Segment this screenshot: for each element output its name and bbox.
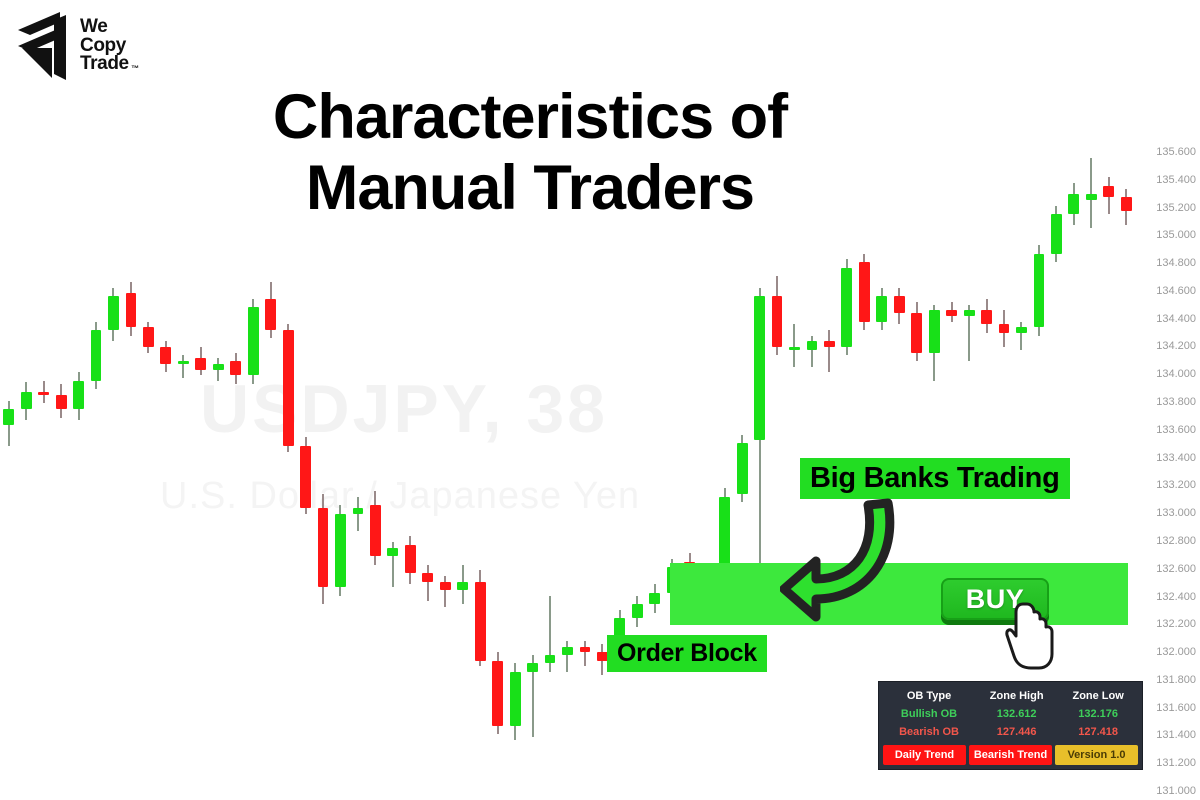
candlestick xyxy=(73,120,84,800)
candle-body xyxy=(178,361,189,364)
candlestick xyxy=(38,120,49,800)
candlestick xyxy=(649,120,660,800)
price-tick-label: 132.800 xyxy=(1156,535,1196,547)
candle-body xyxy=(405,545,416,573)
candlestick xyxy=(318,120,329,800)
candle-body xyxy=(335,514,346,587)
candlestick xyxy=(370,120,381,800)
candle-wick xyxy=(584,641,586,666)
pointing-hand-cursor-icon xyxy=(1005,600,1057,670)
candlestick xyxy=(719,120,730,800)
candle-body xyxy=(457,582,468,590)
candlestick xyxy=(213,120,224,800)
candle-body xyxy=(213,364,224,370)
candle-body xyxy=(562,647,573,655)
candle-body xyxy=(859,262,870,321)
candle-body xyxy=(981,310,992,324)
candlestick xyxy=(457,120,468,800)
price-tick-label: 131.800 xyxy=(1156,674,1196,686)
price-tick-label: 133.800 xyxy=(1156,396,1196,408)
candle-body xyxy=(56,395,67,409)
candlestick xyxy=(160,120,171,800)
ob-header-zone-low: Zone Low xyxy=(1058,687,1138,705)
candlestick xyxy=(562,120,573,800)
candlestick xyxy=(21,120,32,800)
candle-body xyxy=(318,508,329,587)
candle-body xyxy=(737,443,748,494)
candle-body xyxy=(195,358,206,369)
candle-body xyxy=(789,347,800,350)
table-row: Bearish OB 127.446 127.418 xyxy=(883,723,1138,741)
candle-body xyxy=(929,310,940,352)
candlestick xyxy=(422,120,433,800)
candle-body xyxy=(841,268,852,347)
brand-line-3: Trade xyxy=(80,55,129,73)
candle-body xyxy=(283,330,294,446)
candlestick xyxy=(772,120,783,800)
candlestick xyxy=(737,120,748,800)
candle-body xyxy=(160,347,171,364)
price-tick-label: 131.200 xyxy=(1156,757,1196,769)
candle-wick xyxy=(182,355,184,378)
candle-body xyxy=(999,324,1010,332)
wecopytrade-chevron-logo-icon xyxy=(10,8,72,84)
candlestick xyxy=(702,120,713,800)
price-tick-label: 131.000 xyxy=(1156,785,1196,797)
candle-body xyxy=(265,299,276,330)
price-tick-label: 135.600 xyxy=(1156,146,1196,158)
candlestick xyxy=(580,120,591,800)
candlestick xyxy=(3,120,14,800)
price-tick-label: 135.000 xyxy=(1156,229,1196,241)
candlestick xyxy=(440,120,451,800)
bearish-ob-zone-high: 127.446 xyxy=(975,723,1058,741)
candle-wick xyxy=(1020,322,1022,350)
candle-body xyxy=(632,604,643,618)
candlestick xyxy=(353,120,364,800)
candle-body xyxy=(475,582,486,661)
candlestick xyxy=(56,120,67,800)
price-tick-label: 131.400 xyxy=(1156,729,1196,741)
status-badge-row: Daily Trend Bearish Trend Version 1.0 xyxy=(883,745,1138,765)
candle-body xyxy=(1086,194,1097,200)
bullish-ob-zone-high: 132.612 xyxy=(975,705,1058,723)
candlestick xyxy=(545,120,556,800)
candle-body xyxy=(807,341,818,349)
price-tick-label: 135.400 xyxy=(1156,174,1196,186)
candle-body xyxy=(126,293,137,327)
bullish-ob-type: Bullish OB xyxy=(883,705,975,723)
candle-body xyxy=(1068,194,1079,214)
candlestick xyxy=(492,120,503,800)
candle-body xyxy=(353,508,364,514)
candlestick xyxy=(597,120,608,800)
price-tick-label: 133.600 xyxy=(1156,424,1196,436)
curved-left-arrow-icon xyxy=(780,495,900,625)
price-tick-label: 132.400 xyxy=(1156,591,1196,603)
candle-body xyxy=(527,663,538,671)
candle-wick xyxy=(811,336,813,367)
price-tick-label: 132.600 xyxy=(1156,563,1196,575)
candlestick xyxy=(387,120,398,800)
candle-body xyxy=(964,310,975,316)
price-tick-label: 134.600 xyxy=(1156,285,1196,297)
trademark-symbol: ™ xyxy=(131,65,139,73)
order-block-label: Order Block xyxy=(607,635,767,672)
price-axis: 135.600135.400135.200135.000134.800134.6… xyxy=(1134,120,1200,800)
candle-body xyxy=(510,672,521,726)
candle-body xyxy=(492,661,503,726)
candle-wick xyxy=(828,330,830,372)
candle-body xyxy=(300,446,311,508)
candle-body xyxy=(422,573,433,581)
candle-body xyxy=(1051,214,1062,254)
candle-body xyxy=(143,327,154,347)
candle-body xyxy=(894,296,905,313)
candle-body xyxy=(580,647,591,653)
candlestick xyxy=(614,120,625,800)
ob-table-header-row: OB Type Zone High Zone Low xyxy=(883,687,1138,705)
candle-body xyxy=(108,296,119,330)
bearish-ob-type: Bearish OB xyxy=(883,723,975,741)
candlestick xyxy=(283,120,294,800)
candle-body xyxy=(38,392,49,395)
candle-body xyxy=(91,330,102,381)
candle-wick xyxy=(444,576,446,607)
price-tick-label: 133.200 xyxy=(1156,479,1196,491)
candle-wick xyxy=(1090,158,1092,229)
candle-body xyxy=(440,582,451,590)
candle-body xyxy=(754,296,765,440)
candlestick xyxy=(667,120,678,800)
candle-wick xyxy=(217,358,219,381)
candle-wick xyxy=(566,641,568,672)
bearish-ob-zone-low: 127.418 xyxy=(1058,723,1138,741)
candlestick xyxy=(684,120,695,800)
candlestick xyxy=(510,120,521,800)
ob-table: OB Type Zone High Zone Low Bullish OB 13… xyxy=(883,687,1138,741)
ob-header-type: OB Type xyxy=(883,687,975,705)
candlestick xyxy=(108,120,119,800)
price-tick-label: 135.200 xyxy=(1156,202,1196,214)
candle-body xyxy=(649,593,660,604)
candlestick xyxy=(230,120,241,800)
candle-body xyxy=(230,361,241,375)
candle-body xyxy=(21,392,32,409)
candle-wick xyxy=(793,324,795,366)
status-badge-daily-trend: Daily Trend xyxy=(883,745,966,765)
table-row: Bullish OB 132.612 132.176 xyxy=(883,705,1138,723)
ob-header-zone-high: Zone High xyxy=(975,687,1058,705)
price-tick-label: 133.000 xyxy=(1156,507,1196,519)
candle-body xyxy=(824,341,835,347)
status-badge-bearish-trend: Bearish Trend xyxy=(969,745,1052,765)
price-tick-label: 134.200 xyxy=(1156,340,1196,352)
candlestick xyxy=(91,120,102,800)
candle-body xyxy=(1121,197,1132,211)
price-tick-label: 134.800 xyxy=(1156,257,1196,269)
bullish-ob-zone-low: 132.176 xyxy=(1058,705,1138,723)
candle-body xyxy=(772,296,783,347)
candlestick xyxy=(126,120,137,800)
candle-body xyxy=(1103,186,1114,197)
candle-body xyxy=(911,313,922,353)
price-tick-label: 132.000 xyxy=(1156,646,1196,658)
candle-body xyxy=(946,310,957,316)
candle-body xyxy=(73,381,84,409)
order-block-info-panel: OB Type Zone High Zone Low Bullish OB 13… xyxy=(878,681,1143,770)
candlestick xyxy=(300,120,311,800)
candle-body xyxy=(387,548,398,556)
candlestick xyxy=(405,120,416,800)
candlestick xyxy=(632,120,643,800)
candlestick xyxy=(265,120,276,800)
brand-wordmark: We Copy Trade ™ xyxy=(80,18,129,73)
candle-body xyxy=(1016,327,1027,333)
big-banks-trading-label: Big Banks Trading xyxy=(800,458,1070,499)
price-tick-label: 132.200 xyxy=(1156,618,1196,630)
candlestick xyxy=(178,120,189,800)
candlestick xyxy=(143,120,154,800)
candle-body xyxy=(248,307,259,375)
candle-body xyxy=(876,296,887,321)
candle-body xyxy=(1034,254,1045,327)
price-tick-label: 134.000 xyxy=(1156,368,1196,380)
price-tick-label: 134.400 xyxy=(1156,313,1196,325)
status-badge-version: Version 1.0 xyxy=(1055,745,1138,765)
price-tick-label: 131.600 xyxy=(1156,702,1196,714)
candle-body xyxy=(545,655,556,663)
candle-body xyxy=(370,505,381,556)
brand-logo: We Copy Trade ™ xyxy=(10,8,129,84)
candlestick xyxy=(335,120,346,800)
candlestick xyxy=(754,120,765,800)
candle-body xyxy=(3,409,14,425)
price-tick-label: 133.400 xyxy=(1156,452,1196,464)
candlestick xyxy=(789,120,800,800)
candle-wick xyxy=(427,565,429,602)
candle-wick xyxy=(357,497,359,531)
candlestick xyxy=(527,120,538,800)
candlestick xyxy=(195,120,206,800)
candlestick xyxy=(475,120,486,800)
candlestick xyxy=(248,120,259,800)
